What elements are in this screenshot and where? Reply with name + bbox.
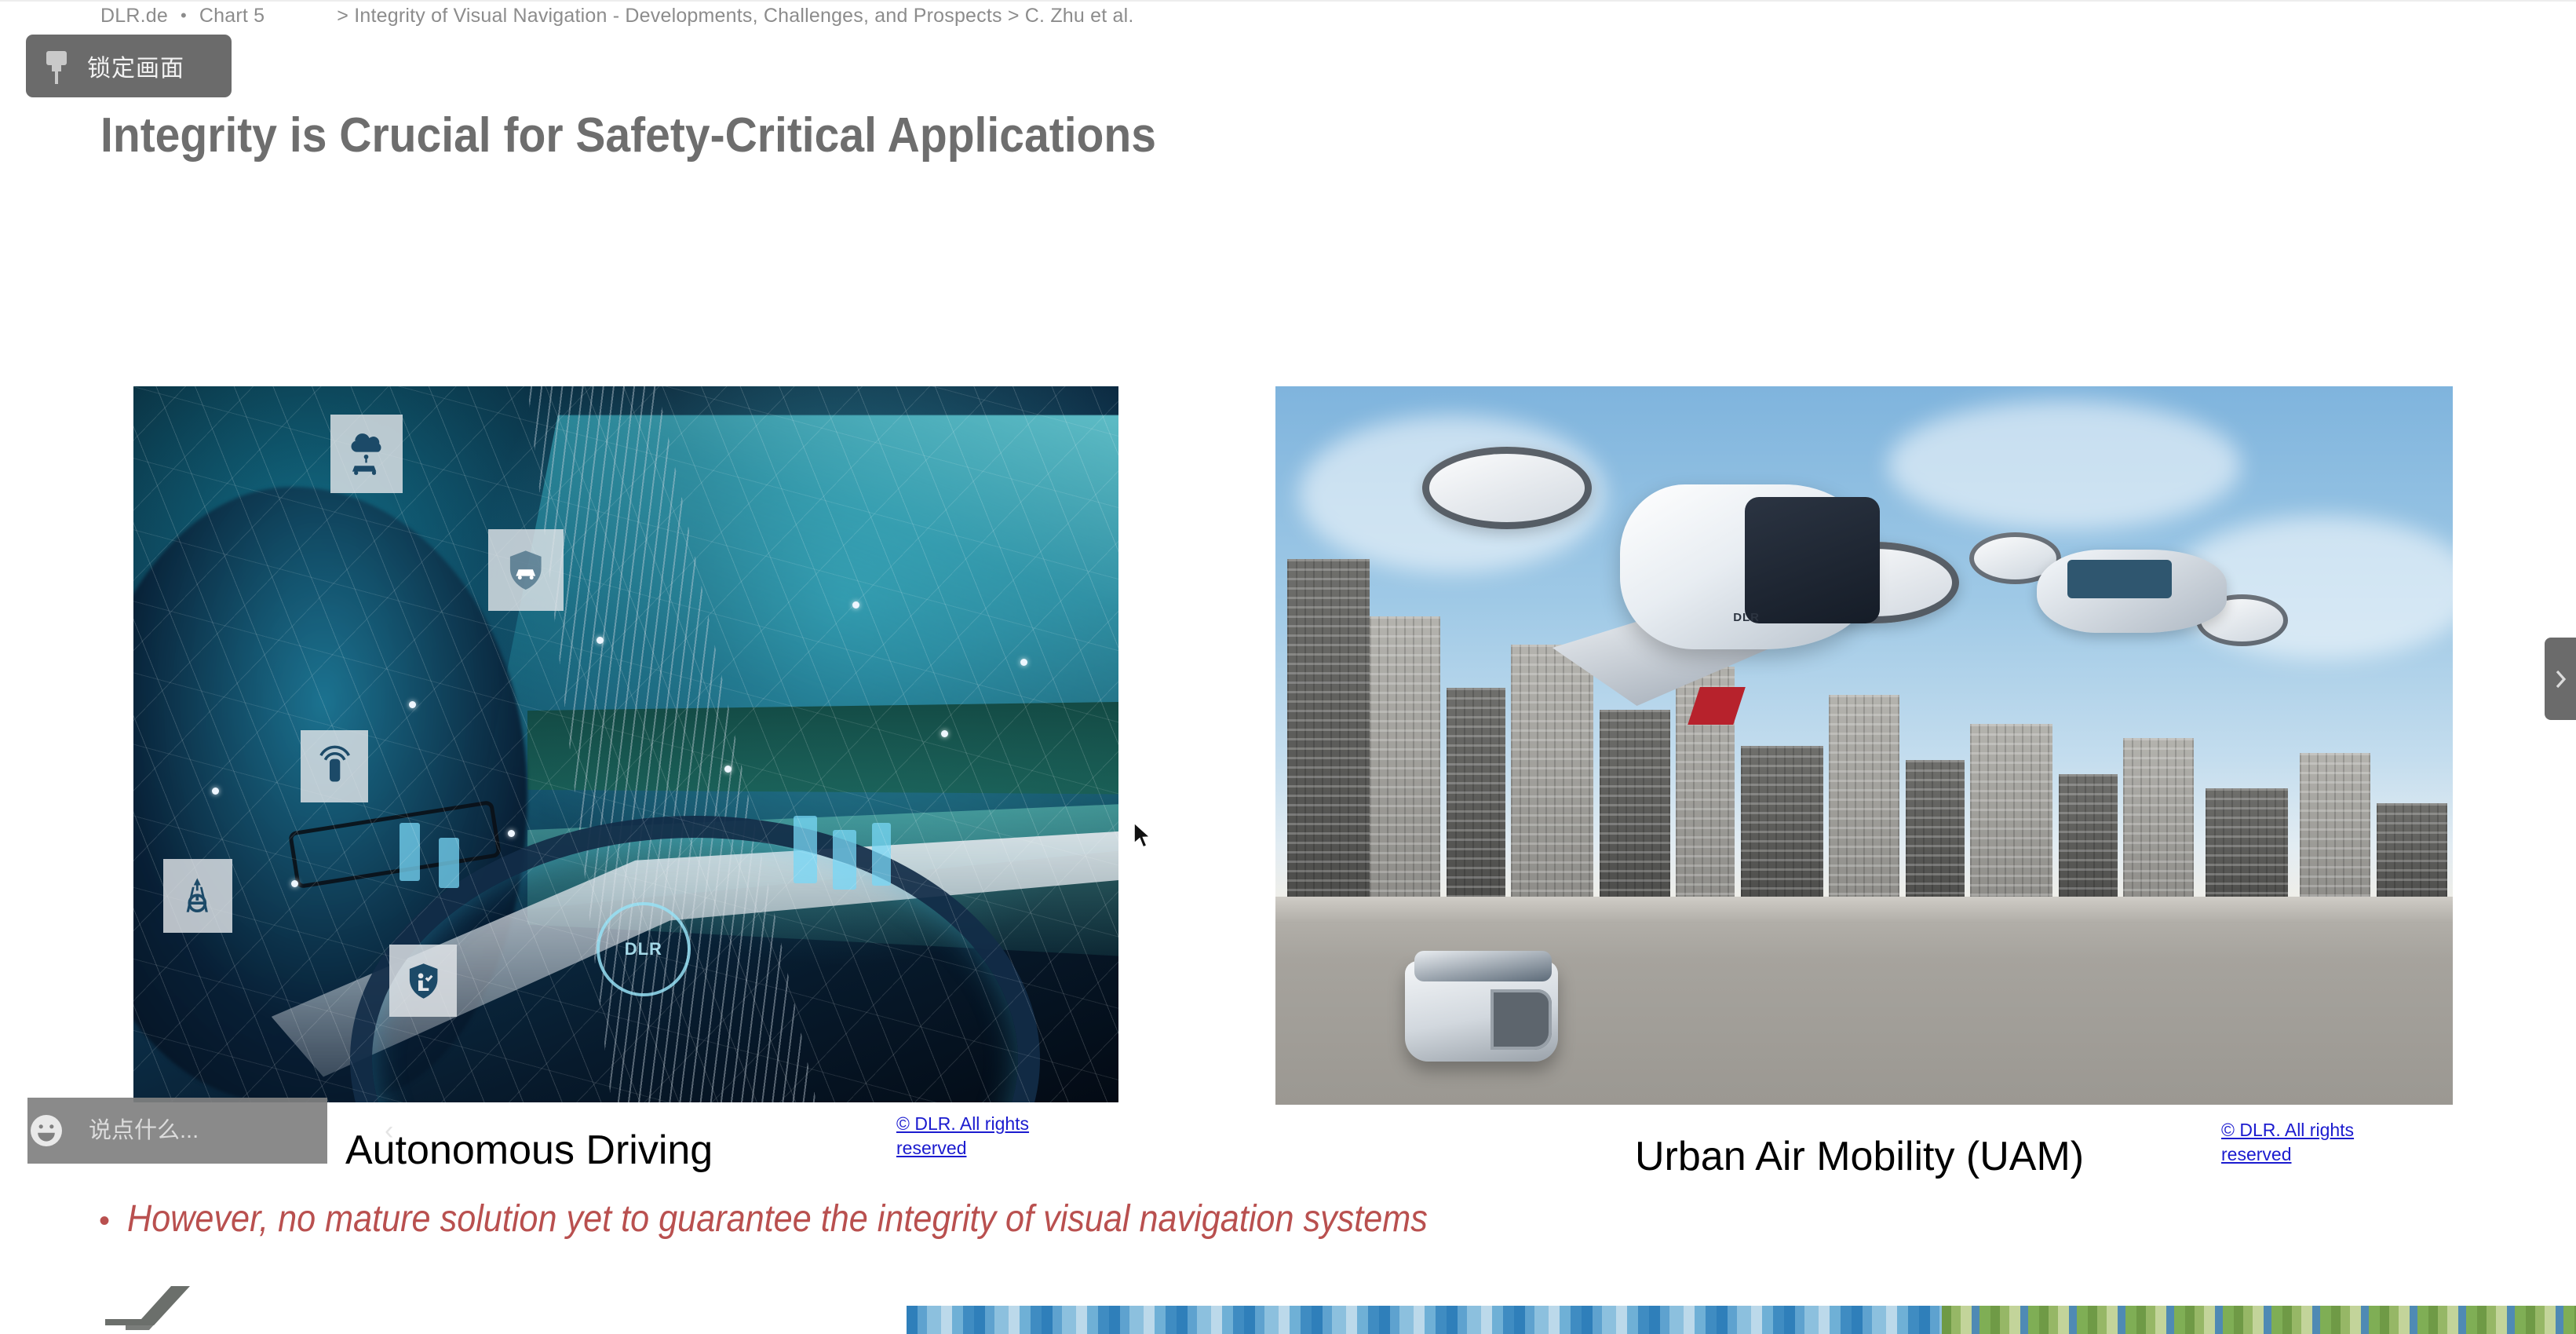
evtol-air-taxi-primary: DLR	[1417, 415, 1982, 732]
figure-urban-air-mobility: DLR	[1275, 386, 2453, 1105]
lock-screen-label: 锁定画面	[87, 49, 184, 83]
figure-autonomous-driving: DLR	[133, 386, 1118, 1102]
dlr-logo-icon	[102, 1285, 228, 1334]
chevron-left-icon[interactable]: ‹	[385, 1098, 393, 1164]
page-title: Integrity is Crucial for Safety-Critical…	[100, 108, 1156, 163]
building-shape	[1906, 760, 1965, 904]
tile-signal-icon	[301, 730, 368, 802]
tile-vehicle-shield-icon	[488, 529, 564, 611]
lock-screen-button[interactable]: 锁定画面	[26, 35, 232, 97]
chevron-right-icon	[2551, 666, 2570, 693]
chat-input-bar[interactable]: ‹	[27, 1098, 327, 1164]
breadcrumb-site: DLR.de	[100, 5, 168, 27]
chat-input[interactable]	[65, 1098, 385, 1164]
mesh-node	[941, 730, 948, 737]
building-shape	[1287, 559, 1370, 904]
mesh-node	[597, 637, 604, 644]
copyright-link-left[interactable]: © DLR. All rights reserved	[896, 1112, 1065, 1160]
building-shape	[1741, 746, 1823, 904]
mesh-node	[291, 880, 298, 887]
tile-lane-keeping-icon	[163, 859, 232, 933]
mesh-node	[852, 601, 859, 609]
building-shape	[1970, 724, 2052, 904]
evtol-air-taxi-secondary	[1982, 509, 2288, 682]
building-shape	[2377, 803, 2447, 904]
building-shape	[1600, 710, 1670, 904]
copyright-link-right[interactable]: © DLR. All rights reserved	[2221, 1118, 2390, 1167]
network-mesh-overlay	[133, 386, 1118, 1102]
building-shape	[2123, 738, 2194, 903]
copyright-text-right: © DLR. All rights reserved	[2221, 1120, 2354, 1164]
caption-urban-air-mobility: Urban Air Mobility (UAM)	[1635, 1133, 2084, 1180]
slide-viewer: DLR.de • Chart 5 > Integrity of Visual N…	[0, 0, 2576, 1334]
side-panel-toggle[interactable]	[2545, 638, 2576, 720]
delivery-robot	[1405, 961, 1558, 1062]
building-shape	[2300, 753, 2370, 904]
bullet-marker: •	[99, 1205, 110, 1237]
mesh-node	[1020, 659, 1027, 666]
bullet-statement: • However, no mature solution yet to gua…	[99, 1197, 1572, 1241]
bullet-text: However, no mature solution yet to guara…	[127, 1197, 1428, 1241]
pin-icon	[43, 48, 70, 84]
breadcrumb-path: > Integrity of Visual Navigation - Devel…	[337, 5, 1133, 27]
mouse-pointer-icon	[1133, 821, 1153, 851]
tile-connected-car-icon	[330, 415, 403, 493]
breadcrumb: DLR.de • Chart 5 > Integrity of Visual N…	[0, 0, 2576, 31]
breadcrumb-chart-number: Chart 5	[199, 5, 265, 27]
emoji-smile-icon[interactable]	[27, 1098, 65, 1164]
breadcrumb-separator: •	[181, 5, 187, 26]
tile-passenger-safety-shield-icon	[389, 945, 457, 1017]
bottom-image-strip	[907, 1306, 2576, 1334]
dlr-mark-icon: DLR	[1733, 611, 1760, 624]
building-shape	[2206, 788, 2288, 903]
building-shape	[2059, 774, 2118, 904]
copyright-text-left: © DLR. All rights reserved	[896, 1113, 1029, 1158]
caption-autonomous-driving: Autonomous Driving	[345, 1127, 713, 1174]
